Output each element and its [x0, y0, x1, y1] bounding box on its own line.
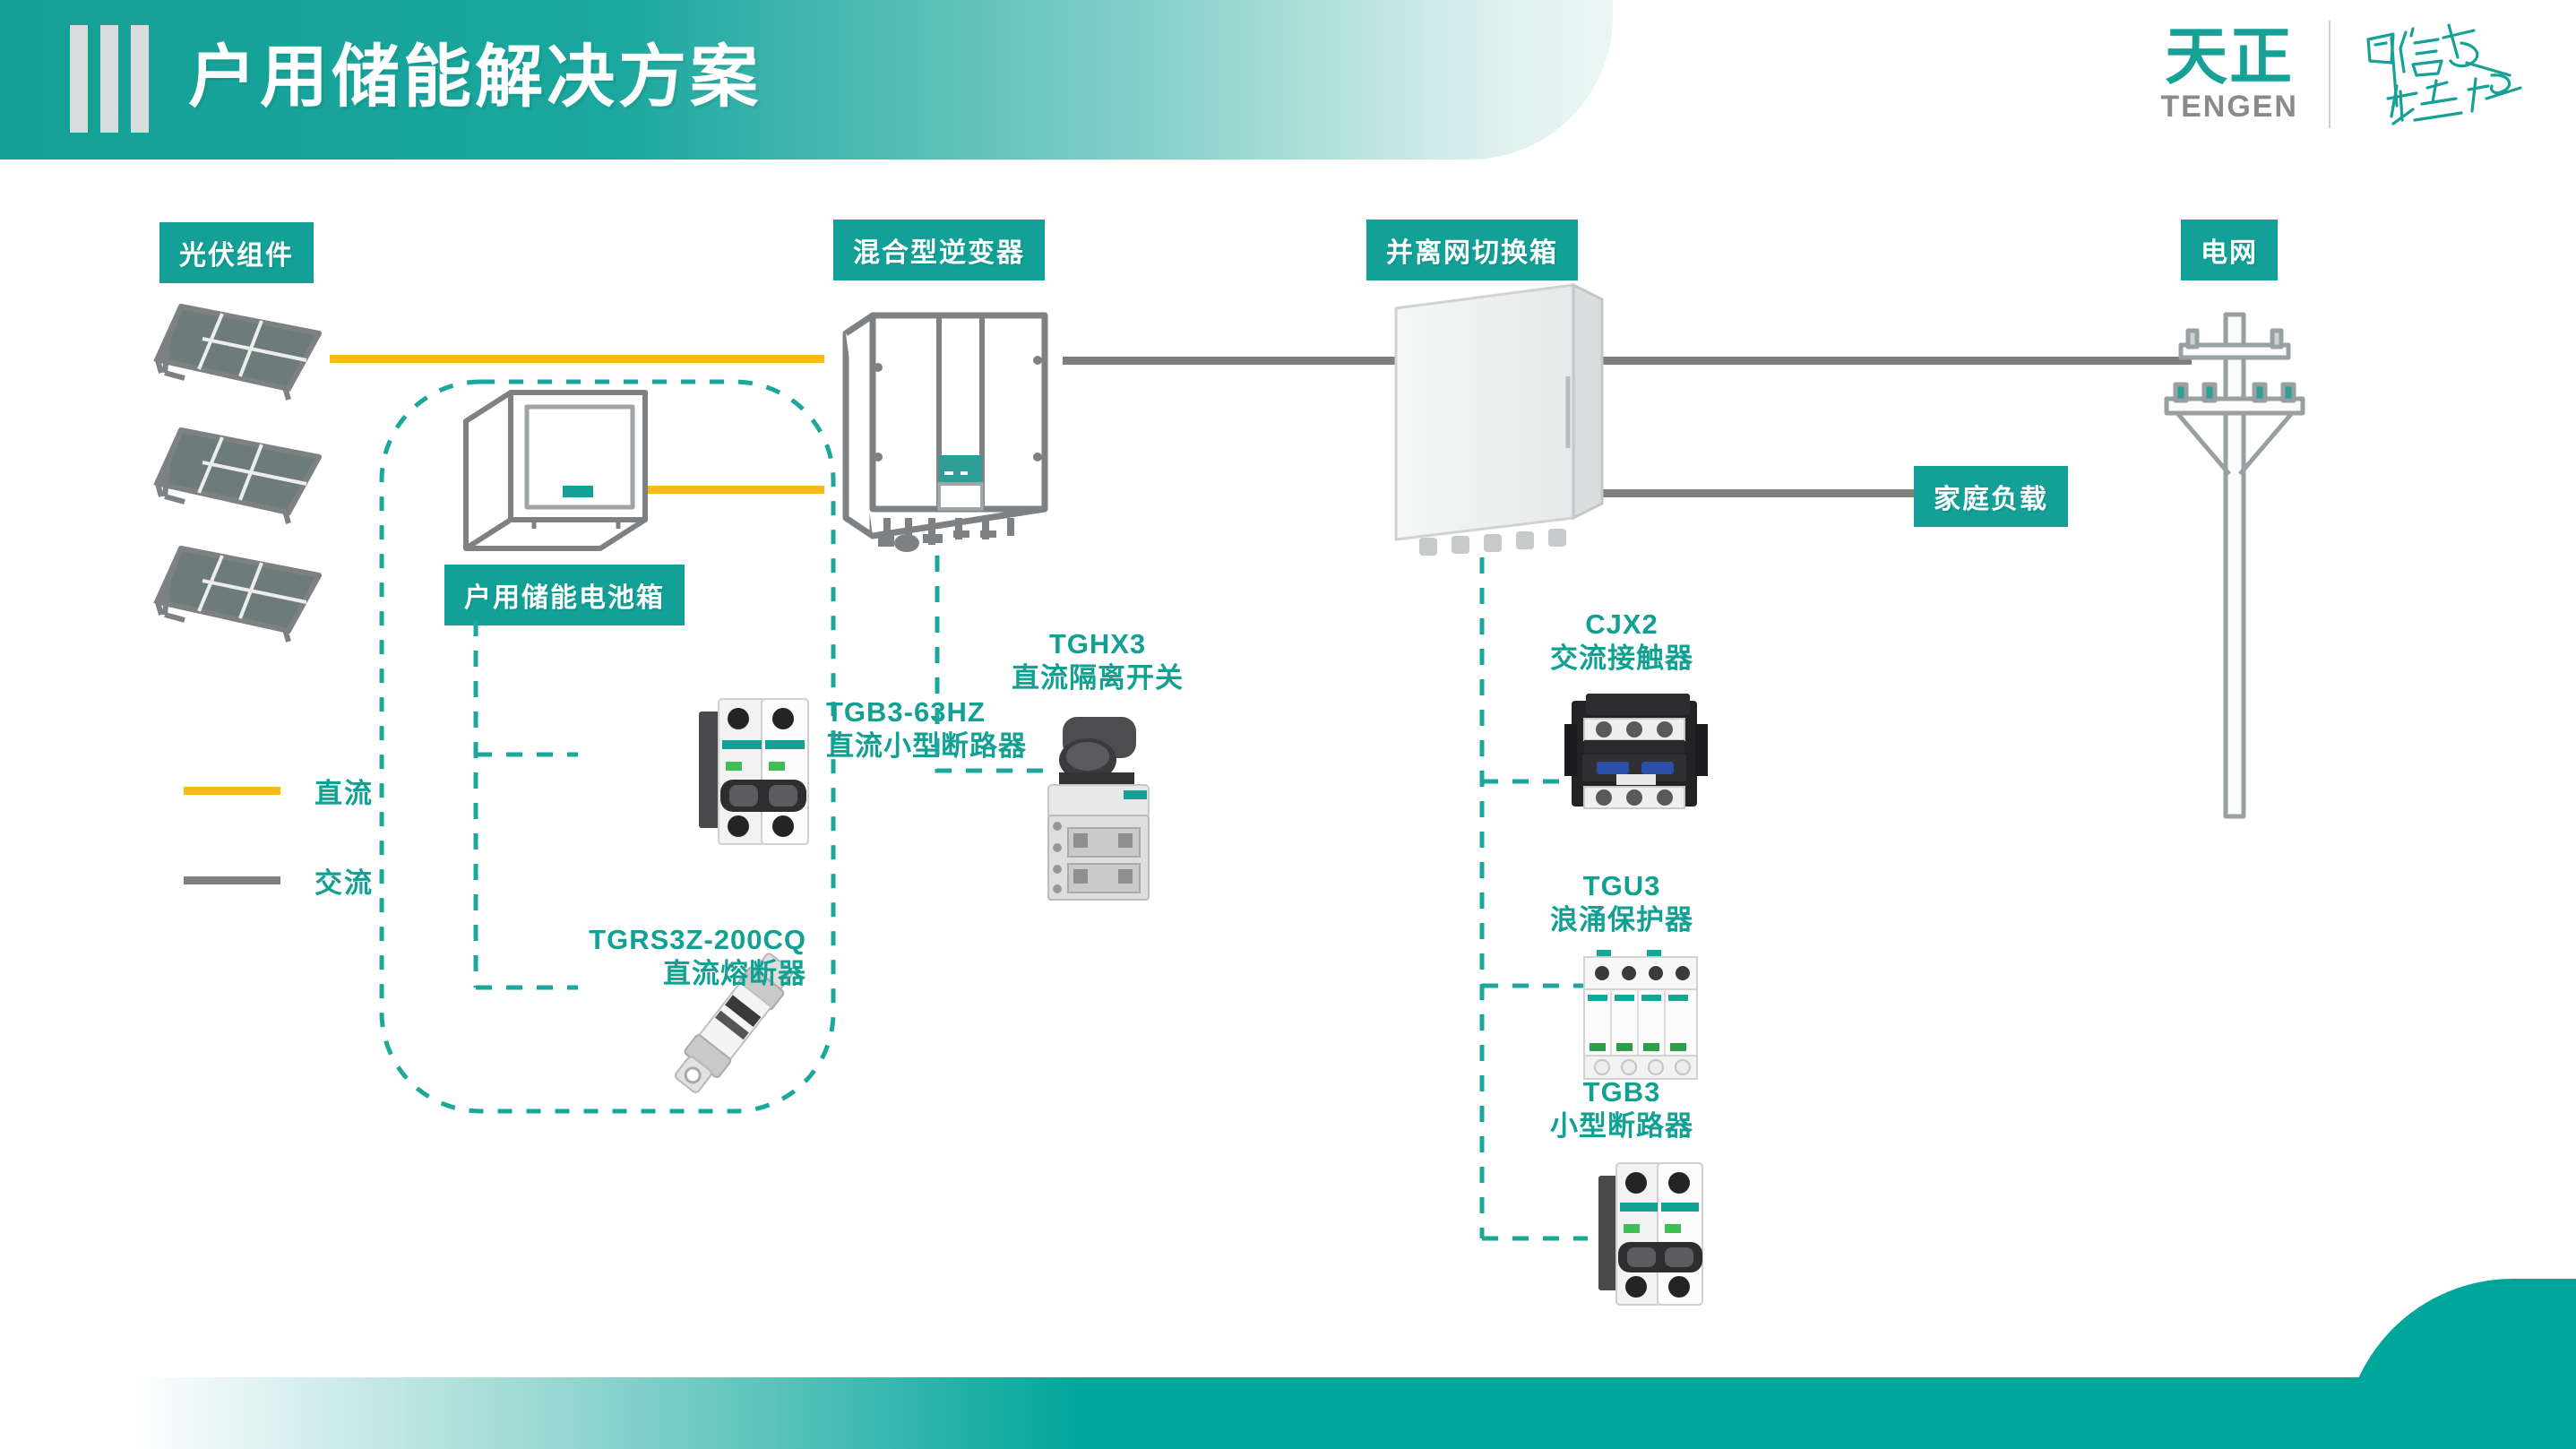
legend-swatch-ac — [184, 876, 280, 884]
page-title: 户用储能解决方案 — [188, 20, 762, 136]
legend-label-dc: 直流 — [314, 771, 374, 811]
product-image-tgb3-63hz — [683, 681, 817, 860]
brand-name-cn: 天正 — [2165, 24, 2294, 89]
wire-dc-pv-to-inverter — [330, 355, 824, 363]
legend: 直流 交流 — [184, 766, 374, 945]
component-model-cjx2: CJX2 — [1452, 608, 1792, 642]
hybrid-inverter-icon — [833, 296, 1066, 556]
product-image-tghx3 — [1012, 708, 1183, 914]
diagram-page: 户用储能解决方案 天正 TENGEN — [0, 0, 2576, 1449]
component-desc-tghx3: 直流隔离开关 — [950, 661, 1245, 695]
legend-item-ac: 交流 — [184, 856, 374, 904]
component-model-tgrs3z-200cq: TGRS3Z-200CQ — [538, 923, 806, 957]
brand-logo: 天正 TENGEN — [2160, 16, 2540, 133]
page-header: 户用储能解决方案 — [0, 0, 1613, 160]
product-image-tgb3 — [1588, 1149, 1713, 1319]
component-caption-cjx2: CJX2 交流接触器 — [1452, 608, 1792, 676]
product-image-tgu3 — [1577, 943, 1711, 1086]
brand-name-en: TENGEN — [2160, 89, 2298, 125]
switch-box-icon — [1387, 278, 1620, 556]
page-footer — [0, 1377, 2576, 1449]
component-desc-tgu3: 浪涌保护器 — [1452, 903, 1792, 937]
legend-item-dc: 直流 — [184, 766, 374, 815]
component-caption-tghx3: TGHX3 直流隔离开关 — [950, 627, 1245, 695]
section-label-inverter: 混合型逆变器 — [833, 220, 1045, 280]
brand-mark: 天正 TENGEN — [2160, 24, 2298, 125]
component-model-tgu3: TGU3 — [1452, 869, 1792, 903]
component-model-tghx3: TGHX3 — [950, 627, 1245, 661]
component-caption-tgu3: TGU3 浪涌保护器 — [1452, 869, 1792, 937]
section-label-pv: 光伏组件 — [159, 222, 314, 283]
brand-slogan-icon — [2361, 16, 2540, 133]
component-model-tgb3: TGB3 — [1452, 1075, 1792, 1109]
header-bars-icon — [70, 25, 149, 133]
component-caption-tgb3: TGB3 小型断路器 — [1452, 1075, 1792, 1143]
section-label-load: 家庭负载 — [1914, 466, 2068, 527]
legend-label-ac: 交流 — [314, 860, 374, 901]
utility-pole-icon — [2150, 291, 2321, 829]
component-desc-tgrs3z-200cq: 直流熔断器 — [538, 957, 806, 991]
brand-divider — [2329, 21, 2330, 128]
product-image-cjx2 — [1561, 688, 1713, 814]
wire-ac-switchbox-to-load — [1600, 489, 1914, 497]
component-caption-tgrs3z-200cq: TGRS3Z-200CQ 直流熔断器 — [538, 923, 806, 991]
wire-ac-switchbox-to-grid — [1600, 357, 2192, 365]
section-label-grid: 电网 — [2181, 220, 2278, 280]
component-desc-tgb3: 小型断路器 — [1452, 1109, 1792, 1143]
component-desc-cjx2: 交流接触器 — [1452, 642, 1792, 676]
battery-cabinet-icon — [457, 385, 654, 565]
section-label-switchbox: 并离网切换箱 — [1366, 220, 1578, 280]
wire-ac-inverter-to-switchbox — [1063, 357, 1398, 365]
legend-swatch-dc — [184, 787, 280, 795]
